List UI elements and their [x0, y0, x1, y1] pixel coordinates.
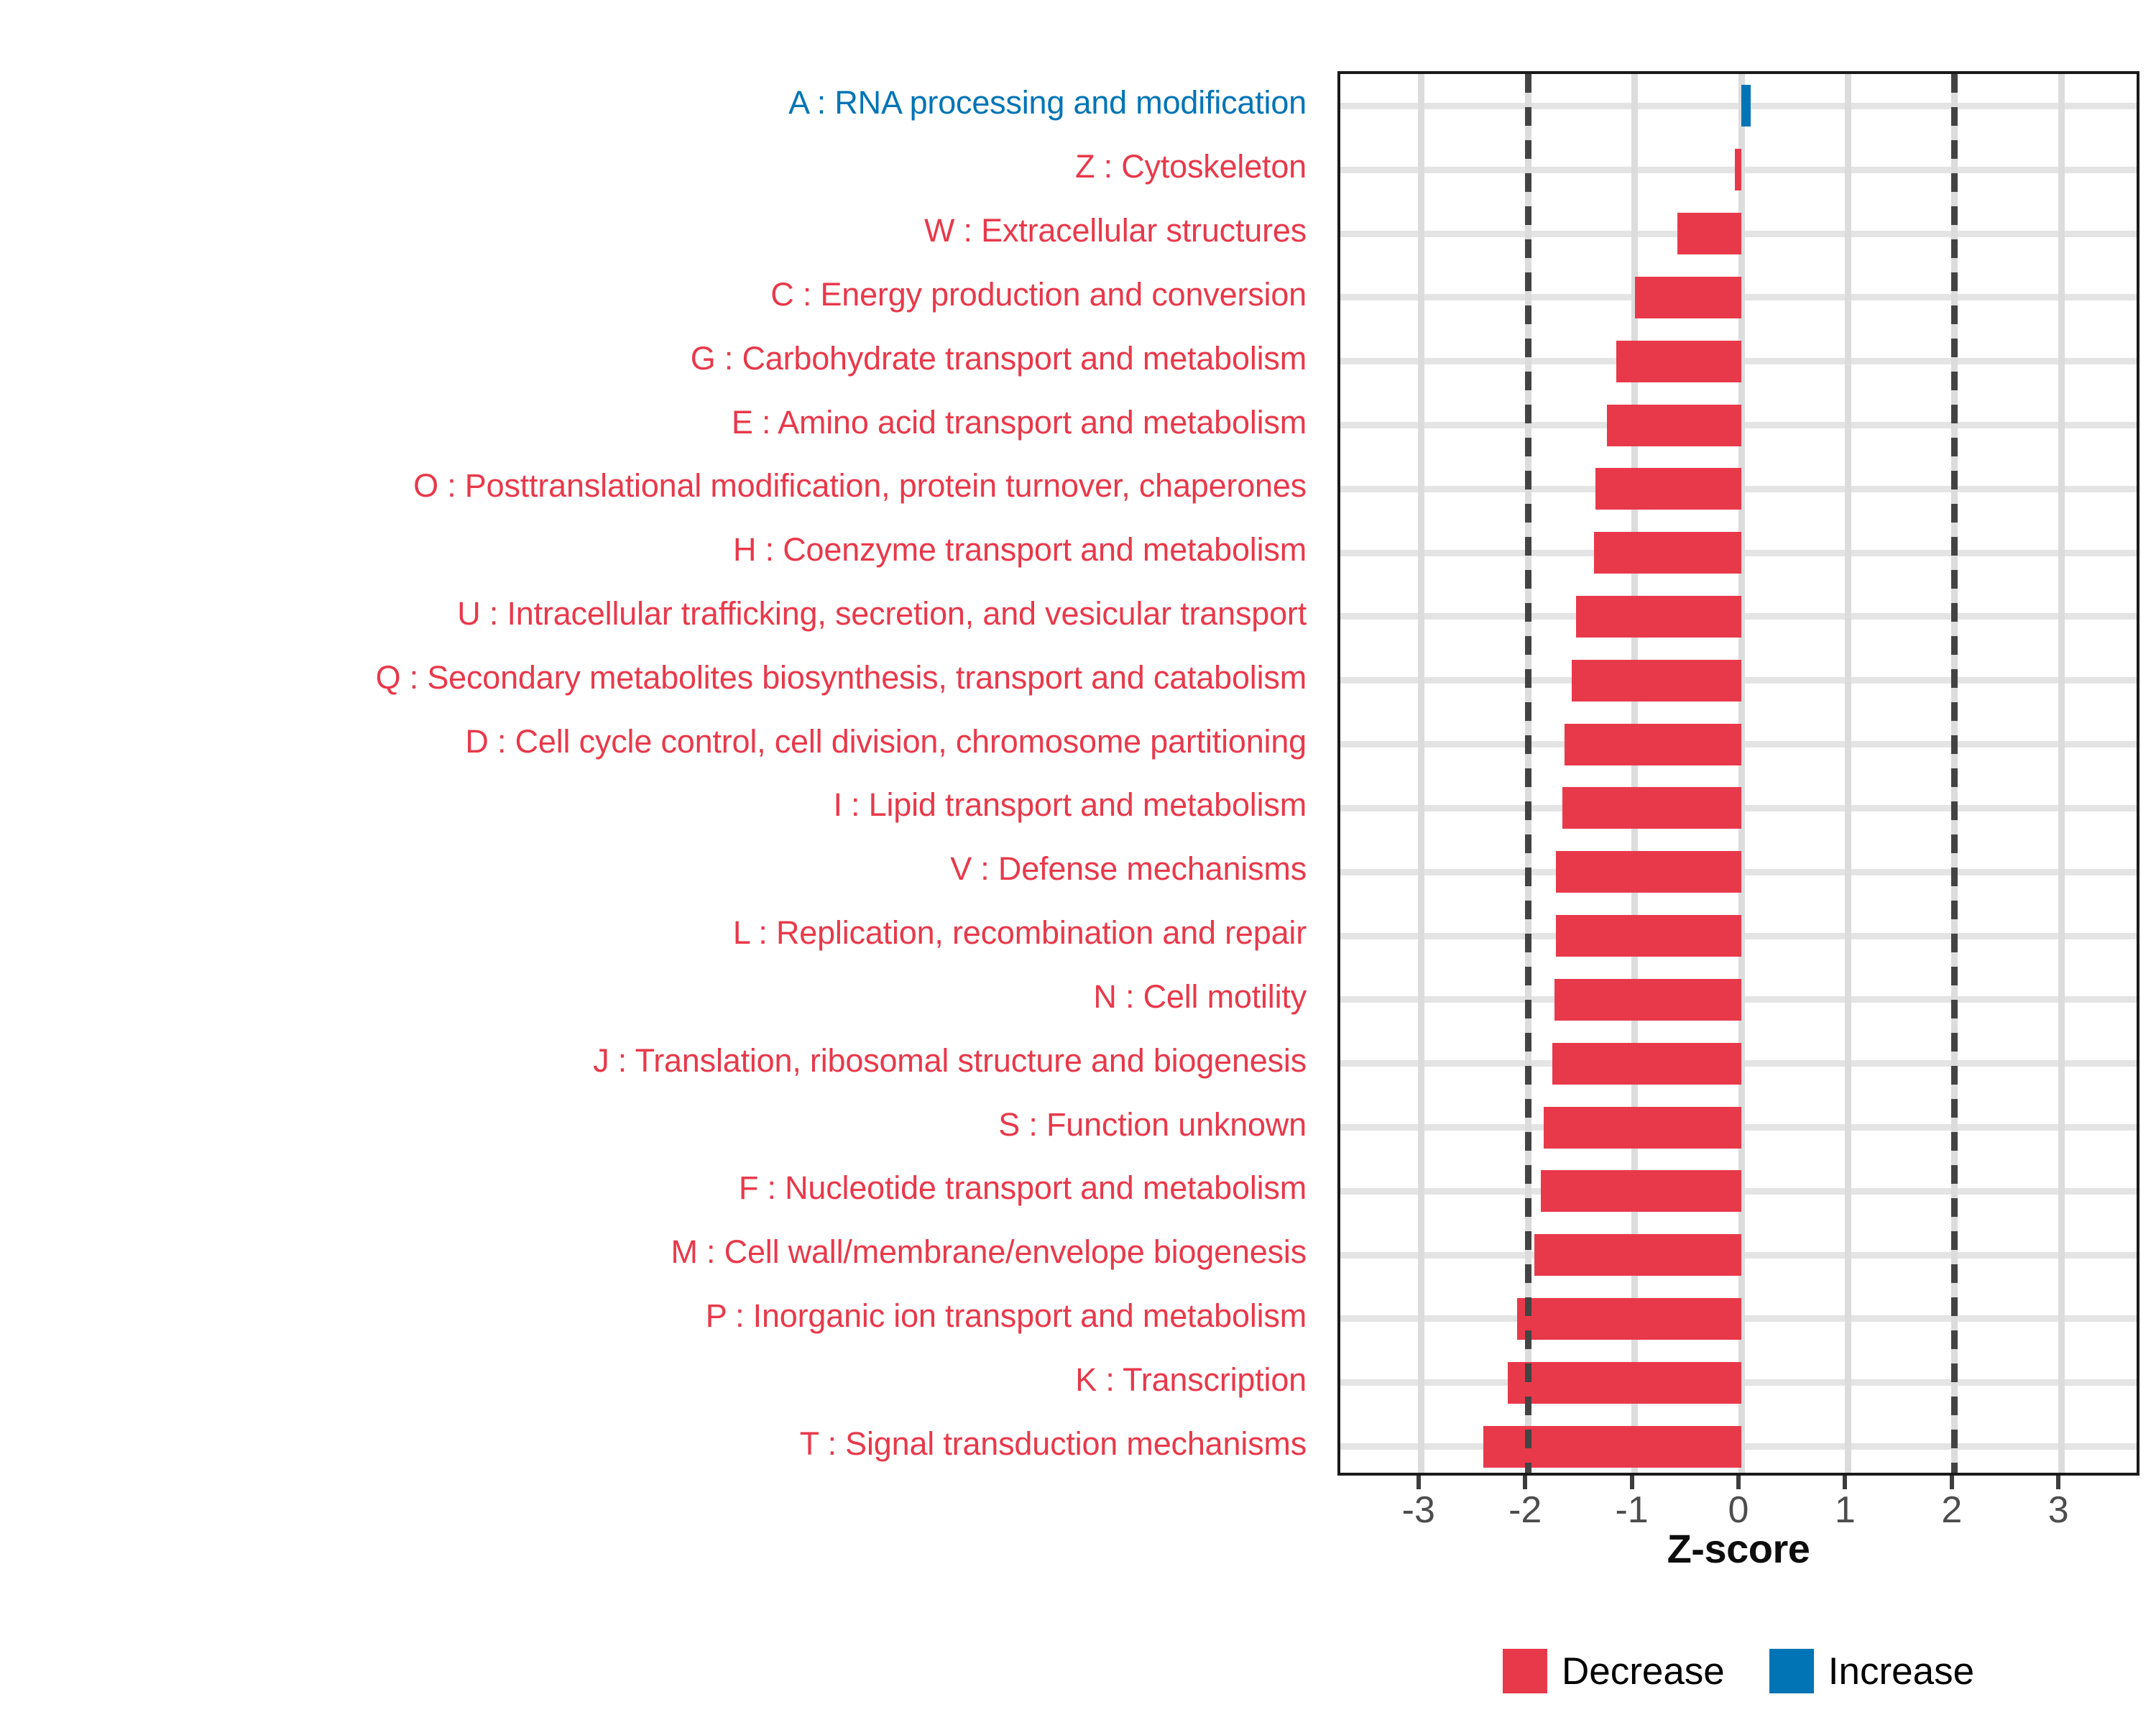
x-tick-mark: [1523, 1476, 1527, 1489]
category-label: W : Extracellular structures: [0, 214, 1322, 247]
category-label: M : Cell wall/membrane/envelope biogenes…: [0, 1236, 1322, 1268]
bar: [1508, 1362, 1741, 1404]
x-tick-mark: [1736, 1476, 1741, 1489]
x-axis-title: Z-score: [1337, 1525, 2139, 1572]
category-label: C : Energy production and conversion: [0, 278, 1322, 310]
bar: [1517, 1298, 1741, 1340]
x-tick-label: 3: [2015, 1491, 2101, 1529]
bar: [1616, 341, 1741, 382]
bar: [1572, 660, 1741, 701]
bar: [1483, 1426, 1741, 1468]
category-label: G : Carbohydrate transport and metabolis…: [0, 342, 1322, 374]
category-label: A : RNA processing and modification: [0, 86, 1322, 119]
category-label: Z : Cytoskeleton: [0, 150, 1322, 183]
category-label: U : Intracellular trafficking, secretion…: [0, 597, 1322, 630]
category-label: P : Inorganic ion transport and metaboli…: [0, 1299, 1322, 1332]
x-tick-label: 0: [1695, 1491, 1782, 1529]
bar: [1565, 724, 1741, 765]
plot-panel: [1337, 71, 2139, 1476]
category-label: I : Lipid transport and metabolism: [0, 788, 1322, 821]
x-tick-mark: [1950, 1476, 1954, 1489]
x-tick-mark: [1416, 1476, 1421, 1489]
category-label: N : Cell motility: [0, 980, 1322, 1013]
category-label: E : Amino acid transport and metabolism: [0, 406, 1322, 438]
bar: [1735, 149, 1741, 190]
legend-item-increase[interactable]: Increase: [1769, 1649, 1974, 1693]
legend-label: Decrease: [1562, 1652, 1725, 1690]
vertical-gridline: [2058, 74, 2065, 1473]
category-label: J : Translation, ribosomal structure and…: [0, 1044, 1322, 1077]
bar: [1556, 851, 1741, 893]
category-label: V : Defense mechanisms: [0, 852, 1322, 885]
threshold-dashed-line: [1951, 74, 1958, 1473]
category-label: K : Transcription: [0, 1363, 1322, 1396]
bar: [1556, 915, 1741, 957]
bar: [1576, 596, 1741, 638]
category-label-column: A : RNA processing and modificationZ : C…: [0, 71, 1322, 1476]
bar: [1607, 405, 1741, 446]
vertical-gridline: [1845, 74, 1851, 1473]
category-label: T : Signal transduction mechanisms: [0, 1427, 1322, 1460]
category-label: H : Coenzyme transport and metabolism: [0, 533, 1322, 566]
x-tick-label: 1: [1802, 1491, 1888, 1529]
legend-label: Increase: [1828, 1652, 1974, 1690]
vertical-gridline: [1418, 74, 1424, 1473]
bar: [1594, 532, 1741, 574]
x-tick-mark: [1630, 1476, 1634, 1489]
cog-category-zscore-bar-chart: A : RNA processing and modificationZ : C…: [0, 0, 2156, 1725]
bar: [1554, 979, 1741, 1021]
bar: [1562, 787, 1741, 829]
category-label: D : Cell cycle control, cell division, c…: [0, 725, 1322, 758]
bar: [1534, 1234, 1741, 1276]
x-tick-label: -1: [1589, 1491, 1675, 1529]
legend-item-decrease[interactable]: Decrease: [1503, 1649, 1725, 1693]
bar: [1552, 1043, 1741, 1085]
x-tick-label: -2: [1482, 1491, 1568, 1529]
legend-swatch-decrease: [1503, 1649, 1547, 1693]
bar: [1635, 277, 1741, 318]
threshold-dashed-line: [1525, 74, 1531, 1473]
bar: [1677, 213, 1741, 254]
bar: [1595, 468, 1741, 510]
category-label: Q : Secondary metabolites biosynthesis, …: [0, 661, 1322, 694]
category-label: F : Nucleotide transport and metabolism: [0, 1172, 1322, 1204]
x-tick-mark: [1843, 1476, 1847, 1489]
chart-legend: DecreaseIncrease: [1337, 1632, 2139, 1711]
legend-swatch-increase: [1769, 1649, 1814, 1693]
x-tick-label: -3: [1376, 1491, 1462, 1529]
bar: [1544, 1107, 1741, 1149]
category-label: S : Function unknown: [0, 1108, 1322, 1141]
category-label: L : Replication, recombination and repai…: [0, 916, 1322, 949]
x-tick-label: 2: [1909, 1491, 1995, 1529]
bar: [1741, 85, 1751, 126]
x-tick-mark: [2056, 1476, 2060, 1489]
bar: [1541, 1170, 1741, 1212]
category-label: O : Posttranslational modification, prot…: [0, 469, 1322, 502]
